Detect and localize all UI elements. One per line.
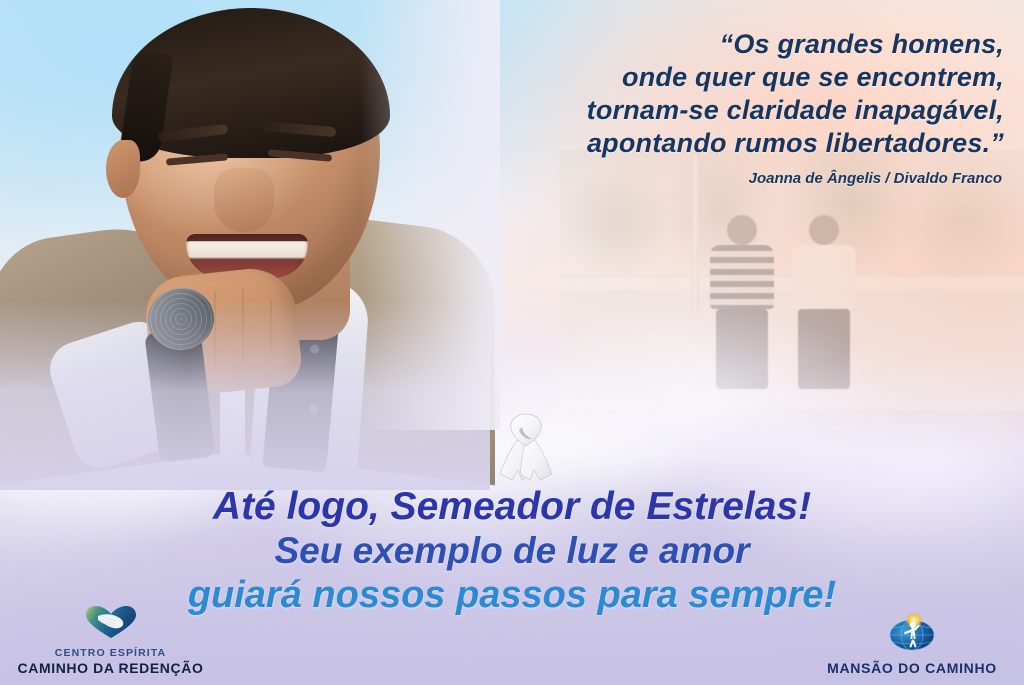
quote-line-2: onde quer que se encontrem, [344,61,1004,94]
logo-right-line-1: MANSÃO DO CAMINHO [812,660,1012,677]
quote-line-4: apontando rumos libertadores.” [344,127,1004,160]
white-ribbon-icon [492,410,560,484]
message-line-2: Seu exemplo de luz e amor [0,529,1024,573]
nose [214,168,274,232]
globe-with-figure-icon [812,612,1012,657]
ear [106,140,140,198]
quote-text: “Os grandes homens, onde quer que se enc… [344,28,1004,160]
farewell-message: Até logo, Semeador de Estrelas! Seu exem… [0,484,1024,618]
memorial-poster: “Os grandes homens, onde quer que se enc… [0,0,1024,685]
logo-centro-espirita: CENTRO ESPÍRITA CAMINHO DA REDENÇÃO [8,605,213,677]
quote-attribution: Joanna de Ângelis / Divaldo Franco [342,170,1002,187]
message-line-1: Até logo, Semeador de Estrelas! [0,484,1024,529]
logo-mansao-do-caminho: MANSÃO DO CAMINHO [812,612,1012,677]
logo-left-line-1: CENTRO ESPÍRITA [8,647,213,660]
logo-left-line-2: CAMINHO DA REDENÇÃO [8,660,213,677]
heart-with-hands-icon [8,605,213,644]
quote-line-1: “Os grandes homens, [344,28,1004,61]
quote-line-3: tornam-se claridade inapagável, [344,94,1004,127]
